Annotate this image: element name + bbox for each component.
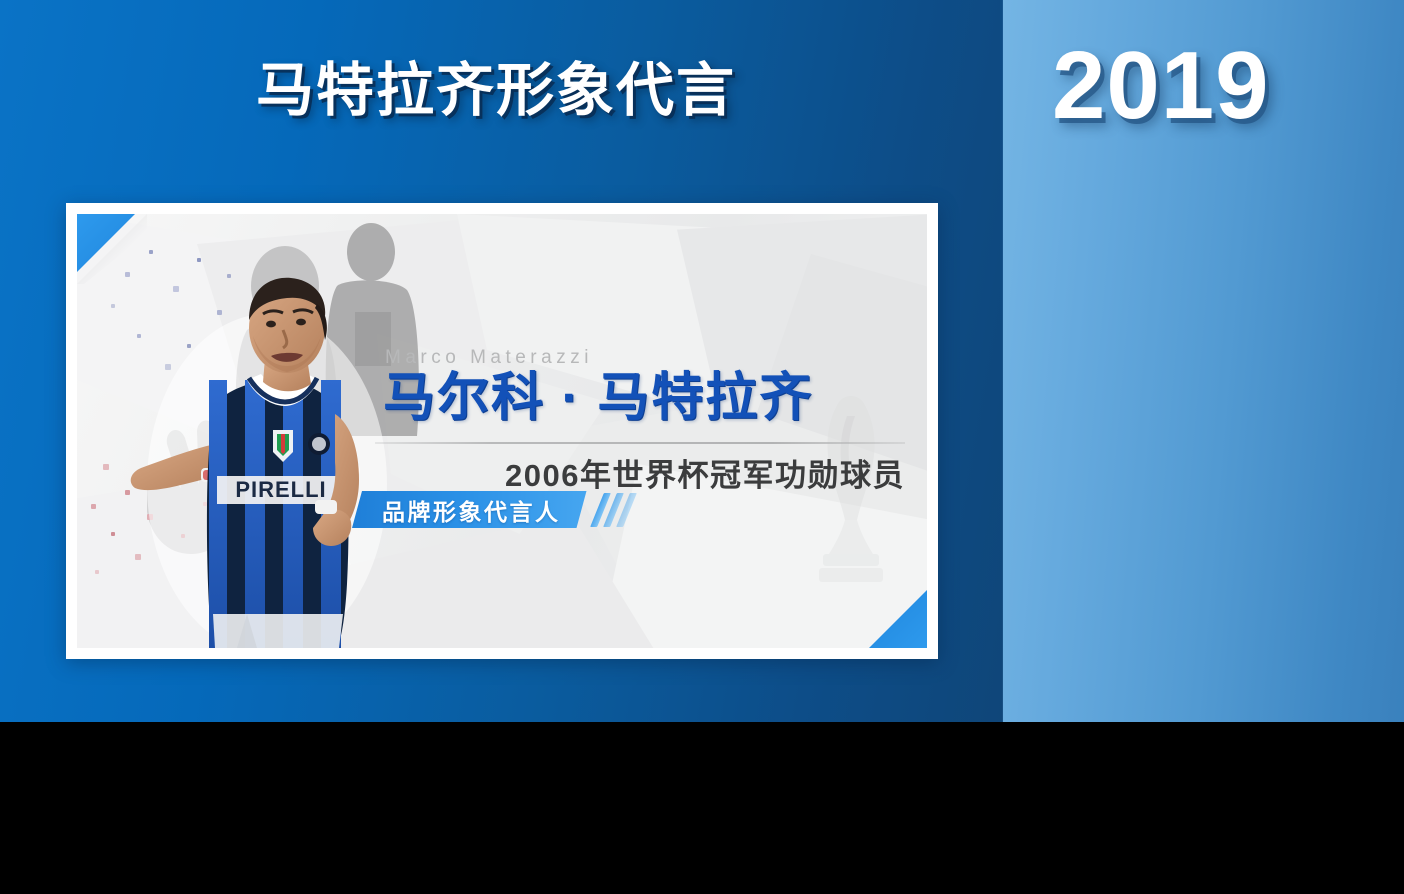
ribbon-badge: 品牌形象代言人 <box>352 491 630 528</box>
kit-sponsor-text: PIRELLI <box>235 477 326 502</box>
ribbon-label: 品牌形象代言人 <box>382 493 561 527</box>
divider-rule <box>375 442 905 444</box>
slide-canvas: 马特拉齐形象代言 2019 <box>0 0 1404 894</box>
panel-divider <box>1000 0 1003 722</box>
player-name-chinese: 马尔科 · 马特拉齐 <box>383 371 813 426</box>
endorsement-banner-frame: PIRELLI <box>66 203 938 659</box>
ribbon-shape: 品牌形象代言人 <box>352 491 587 528</box>
endorsement-banner: PIRELLI <box>77 214 927 648</box>
page-title: 马特拉齐形象代言 <box>256 62 736 120</box>
player-name-latin: Marco Materazzi <box>385 347 593 369</box>
year-label: 2019 <box>1052 38 1270 134</box>
ribbon-slashes <box>597 493 630 527</box>
letterbox-area <box>0 722 1404 894</box>
player-subtitle: 2006年世界杯冠军功勋球员 <box>383 450 905 495</box>
world-cup-trophy-icon <box>795 392 905 642</box>
presentation-slide: 马特拉齐形象代言 2019 <box>0 0 1404 722</box>
